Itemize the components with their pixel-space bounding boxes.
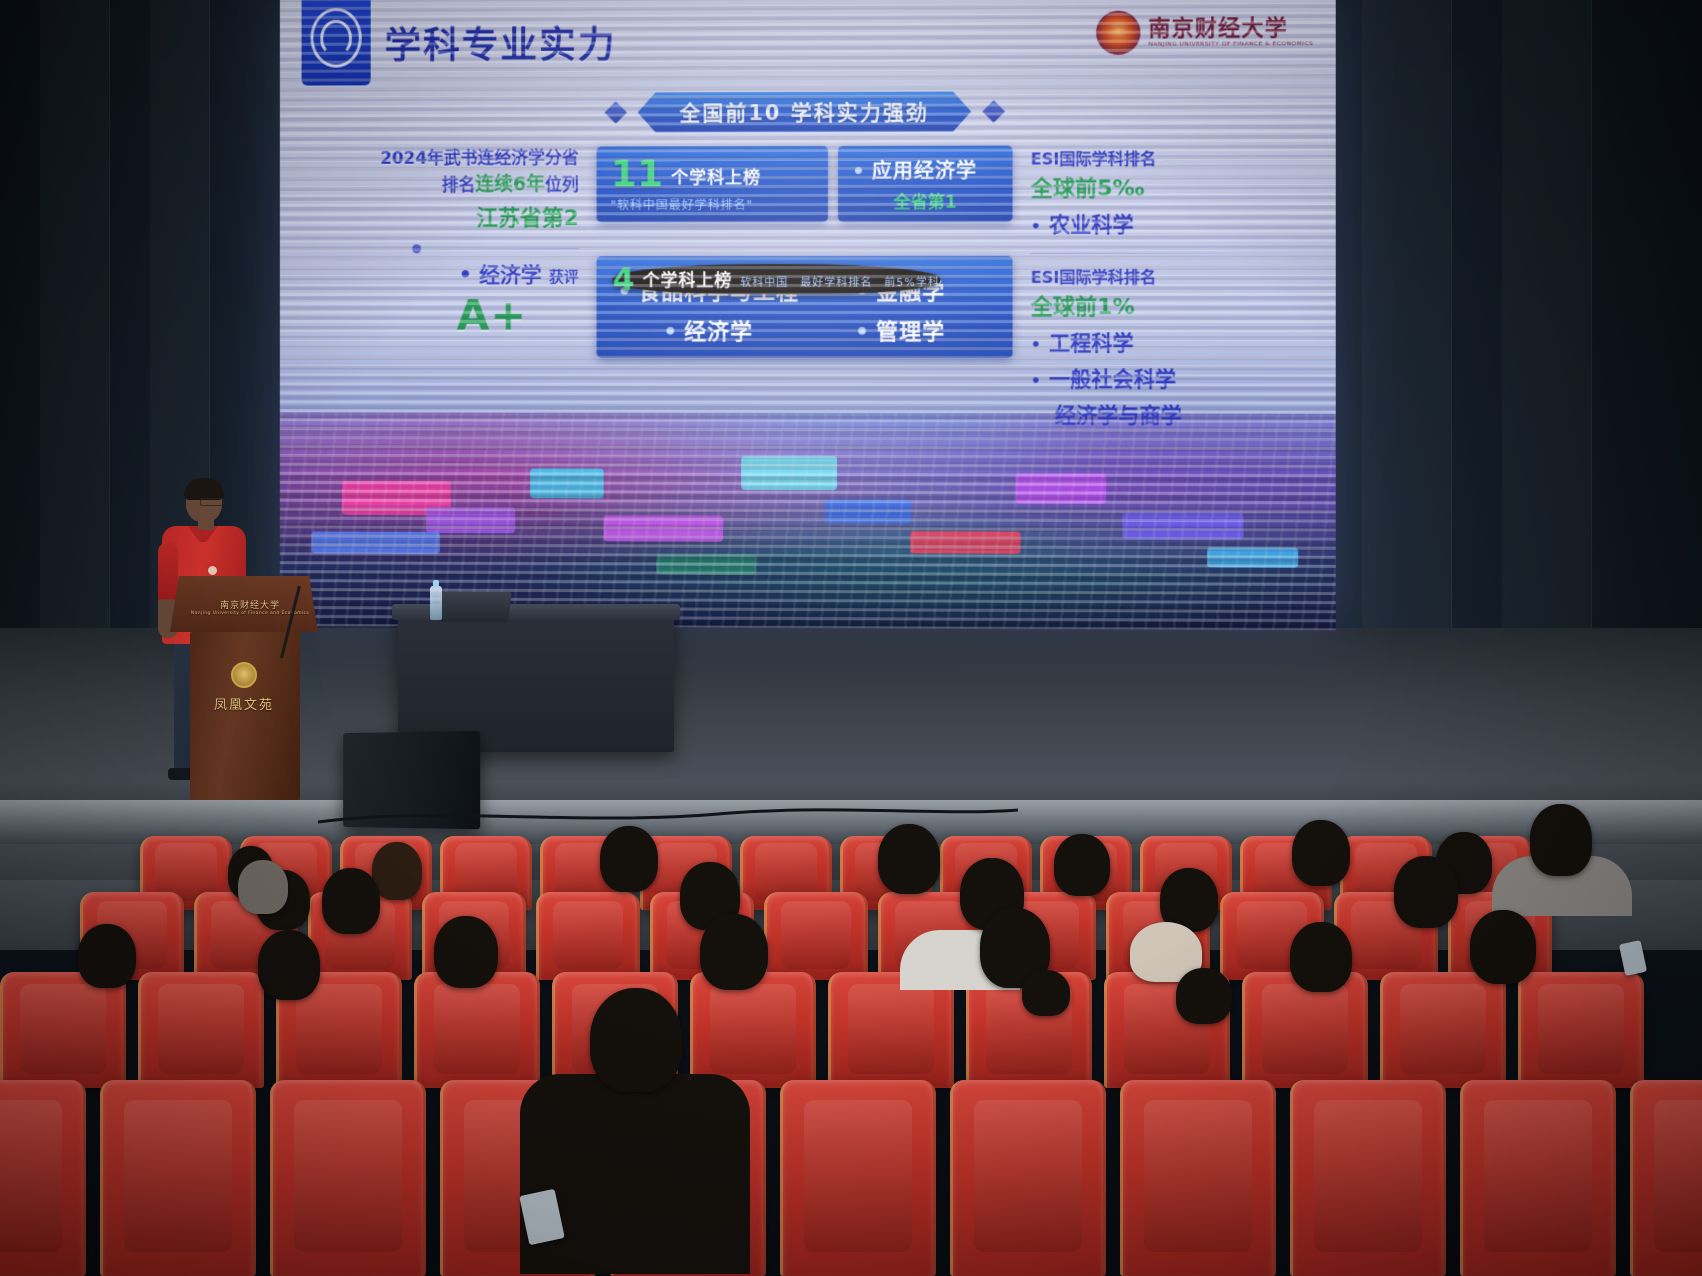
- screenshot-root: 学科专业实力 南京财经大学 NANJING UNIVERSITY OF FINA…: [0, 0, 1702, 1276]
- right-column: ESI国际学科排名 全球前5‰ •农业科学 ESI国际学科排名 全球前1% •工…: [1013, 145, 1336, 430]
- seat: [1380, 972, 1506, 1088]
- province-rank: 江苏省第2: [349, 201, 579, 233]
- university-name-cn: 南京财经大学: [1148, 17, 1313, 41]
- top5-subject-2: •经济学: [613, 314, 804, 346]
- ribbon-label: 全国前10 学科实力强劲: [638, 91, 971, 132]
- economics-grade-line: • 经济学 获评: [349, 259, 579, 289]
- bullet-icon-esi-1-0: •: [1031, 217, 1041, 236]
- wushulian-highlight: 连续6年: [475, 173, 545, 195]
- audience-head: [590, 988, 682, 1092]
- university-logo: 南京财经大学 NANJING UNIVERSITY OF FINANCE & E…: [1096, 10, 1314, 55]
- left-column: 2024年武书连经济学分省 排名连续6年位列 江苏省第2 • 经济学 获评 A+: [280, 146, 597, 428]
- seat: [536, 892, 640, 980]
- applied-economics-subject: 应用经济学: [872, 159, 977, 183]
- laptop-on-table: [438, 592, 511, 622]
- applied-economics-rank: 全省第1: [852, 188, 998, 213]
- lectern-seal-icon: [231, 662, 257, 688]
- top5-subjects-card: 4 个学科上榜 软科中国 最好学科排名 前5%学科 •食品科学与工程 •金融学: [597, 256, 1013, 358]
- wushulian-line2-pre: 排名: [442, 175, 476, 195]
- seat-row-2: [0, 972, 1702, 1088]
- seat: [138, 972, 264, 1088]
- esi-heading-1: ESI国际学科排名: [1031, 145, 1336, 170]
- wushulian-line2-post: 位列: [545, 175, 579, 195]
- center-column: 11 个学科上榜 "软科中国最好学科排名" •应用经济学 全省第1: [597, 146, 1013, 430]
- audience-shoulders: [520, 1074, 750, 1274]
- audience-head: [600, 826, 658, 892]
- esi-item-2-2: 经济学与商学: [1031, 399, 1336, 430]
- bullet-icon-esi-2-1: •: [1031, 371, 1041, 390]
- glasses-icon: [200, 498, 224, 506]
- audience-head: [1022, 970, 1070, 1016]
- water-bottle: [430, 586, 442, 620]
- seat: [950, 1080, 1106, 1276]
- bullet-icon-esi-2-0: •: [1031, 335, 1041, 354]
- economics-grade: A+: [349, 291, 579, 341]
- top5-tag-0: 软科中国: [740, 274, 788, 290]
- seat: [1460, 1080, 1616, 1276]
- seat: [780, 1080, 936, 1276]
- diamond-icon-left: [604, 101, 627, 124]
- ruanke-count-label: 个学科上榜: [671, 163, 761, 191]
- applied-economics-card: •应用经济学 全省第1: [838, 146, 1013, 223]
- audience-head: [78, 924, 136, 988]
- audience-head: [1054, 834, 1110, 896]
- slide-title: 学科专业实力: [385, 15, 617, 70]
- ruanke-count: 11: [611, 155, 664, 191]
- seat: [414, 972, 540, 1088]
- audience-head: [238, 860, 288, 914]
- top5-tag-2: 前5%学科: [884, 274, 940, 290]
- audience-head: [1292, 820, 1350, 886]
- audience-head: [372, 842, 422, 900]
- audience-head: [1176, 968, 1232, 1024]
- audience-head: [700, 914, 768, 990]
- university-name-en: NANJING UNIVERSITY OF FINANCE & ECONOMIC…: [1148, 40, 1313, 48]
- diamond-icon-right: [982, 100, 1005, 123]
- audience-head: [1530, 804, 1592, 876]
- seat-row-near: [0, 1080, 1702, 1276]
- economics-suffix: 获评: [549, 268, 579, 286]
- lectern: 南京财经大学 Nanjing University of Finance and…: [176, 576, 312, 800]
- seat: [764, 892, 868, 980]
- esi-heading-2: ESI国际学科排名: [1031, 264, 1336, 288]
- seat: [0, 1080, 86, 1276]
- seat: [0, 972, 126, 1088]
- ruanke-rank-card: 11 个学科上榜 "软科中国最好学科排名": [597, 146, 828, 222]
- top5-subject-3: •管理学: [804, 314, 996, 346]
- esi-item-1-0: •农业科学: [1031, 208, 1336, 239]
- slide-columns: 2024年武书连经济学分省 排名连续6年位列 江苏省第2 • 经济学 获评 A+: [280, 145, 1336, 430]
- school-emblem-icon: [302, 0, 371, 86]
- bullet-icon: •: [459, 263, 472, 287]
- audience-head: [878, 824, 940, 894]
- esi-item-2-0: •工程科学: [1031, 327, 1336, 357]
- seat: [100, 1080, 256, 1276]
- audience-head: [322, 868, 380, 934]
- wushulian-ranking-text: 2024年武书连经济学分省 排名连续6年位列: [349, 147, 579, 199]
- seat: [690, 972, 816, 1088]
- audience-area: [0, 812, 1702, 1276]
- seat: [1120, 1080, 1276, 1276]
- lectern-motto: 凤凰文苑: [176, 694, 312, 713]
- slide-ribbon: 全国前10 学科实力强劲: [608, 91, 1001, 132]
- audience-head: [1394, 856, 1458, 928]
- esi-threshold-1: 全球前5‰: [1031, 170, 1336, 203]
- university-seal-icon: [1096, 11, 1140, 55]
- wushulian-line1: 2024年武书连经济学分省: [380, 149, 579, 169]
- presentation-slide: 学科专业实力 南京财经大学 NANJING UNIVERSITY OF FINA…: [280, 0, 1336, 630]
- center-card-row: 11 个学科上榜 "软科中国最好学科排名" •应用经济学 全省第1: [597, 146, 1013, 223]
- audience-head: [258, 930, 320, 1000]
- esi-item-2-1: •一般社会科学: [1031, 363, 1336, 393]
- audience-head: [1470, 910, 1536, 984]
- ruanke-source: "软科中国最好学科排名": [611, 196, 814, 213]
- audience-head: [434, 916, 498, 988]
- top5-count-label: 个学科上榜: [643, 267, 733, 295]
- seat: [1518, 972, 1644, 1088]
- seat: [270, 1080, 426, 1276]
- projection-screen: 学科专业实力 南京财经大学 NANJING UNIVERSITY OF FINA…: [280, 0, 1336, 630]
- audience-head: [1290, 922, 1352, 992]
- top5-tag-1: 最好学科排名: [800, 274, 872, 290]
- seat: [1630, 1080, 1702, 1276]
- economics-subject: 经济学: [479, 263, 541, 287]
- esi-threshold-2: 全球前1%: [1031, 289, 1336, 321]
- bullet-icon-applied: •: [852, 159, 866, 183]
- seat: [1290, 1080, 1446, 1276]
- left-divider: [418, 248, 579, 249]
- top5-count: 4: [613, 264, 635, 294]
- right-divider: [1031, 253, 1293, 254]
